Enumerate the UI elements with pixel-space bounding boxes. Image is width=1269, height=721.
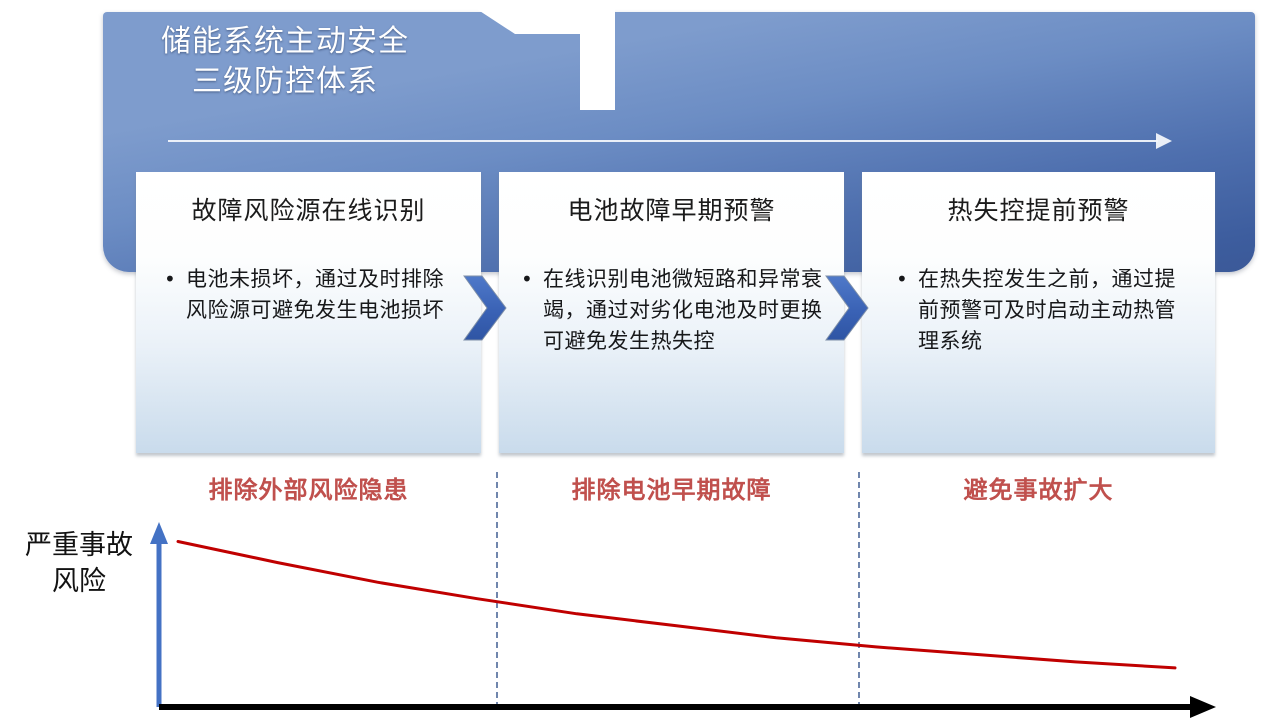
stage-panel-1[interactable]: 故障风险源在线识别 • 电池未损坏，通过及时排除风险源可避免发生电池损坏 (136, 172, 481, 453)
stage-panel-3-bullet-text: 在热失控发生之前，通过提前预警可及时启动主动热管理系统 (918, 264, 1196, 357)
bullet-icon: • (896, 264, 918, 357)
stage-panel-2[interactable]: 电池故障早期预警 • 在线识别电池微短路和异常衰竭，通过对劣化电池及时更换可避免… (499, 172, 844, 453)
list-item: • 在线识别电池微短路和异常衰竭，通过对劣化电池及时更换可避免发生热失控 (521, 264, 831, 357)
chart-y-axis-arrowhead (150, 522, 168, 544)
stage-panel-2-body: • 在线识别电池微短路和异常衰竭，通过对劣化电池及时更换可避免发生热失控 (521, 264, 831, 357)
stage-panel-3-title: 热失控提前预警 (862, 194, 1215, 228)
progress-arrow-line (168, 140, 1158, 142)
chevron-right-icon (824, 274, 870, 342)
chevron-right-icon (462, 274, 508, 342)
stage-panel-2-title: 电池故障早期预警 (499, 194, 844, 228)
stage-panel-3-body: • 在热失控发生之前，通过提前预警可及时启动主动热管理系统 (896, 264, 1196, 357)
risk-decay-chart (0, 500, 1269, 721)
slide-canvas: 储能系统主动安全 三级防控体系 故障风险源在线识别 • 电池未损坏，通过及时排除… (0, 0, 1269, 721)
stage-panel-1-body: • 电池未损坏，通过及时排除风险源可避免发生电池损坏 (164, 264, 464, 326)
list-item: • 在热失控发生之前，通过提前预警可及时启动主动热管理系统 (896, 264, 1196, 357)
banner-title: 储能系统主动安全 三级防控体系 (120, 22, 450, 102)
stage-panel-1-bullet-text: 电池未损坏，通过及时排除风险源可避免发生电池损坏 (186, 264, 464, 326)
chart-x-axis-arrowhead (1190, 696, 1216, 718)
chart-series-line (178, 542, 1175, 668)
stage-panel-2-bullet-text: 在线识别电池微短路和异常衰竭，通过对劣化电池及时更换可避免发生热失控 (543, 264, 831, 357)
right-arrow-icon (1156, 133, 1172, 149)
stage-panel-1-title: 故障风险源在线识别 (136, 194, 481, 228)
stage-panel-3[interactable]: 热失控提前预警 • 在热失控发生之前，通过提前预警可及时启动主动热管理系统 (862, 172, 1215, 453)
list-item: • 电池未损坏，通过及时排除风险源可避免发生电池损坏 (164, 264, 464, 326)
bullet-icon: • (164, 264, 186, 326)
bullet-icon: • (521, 264, 543, 357)
